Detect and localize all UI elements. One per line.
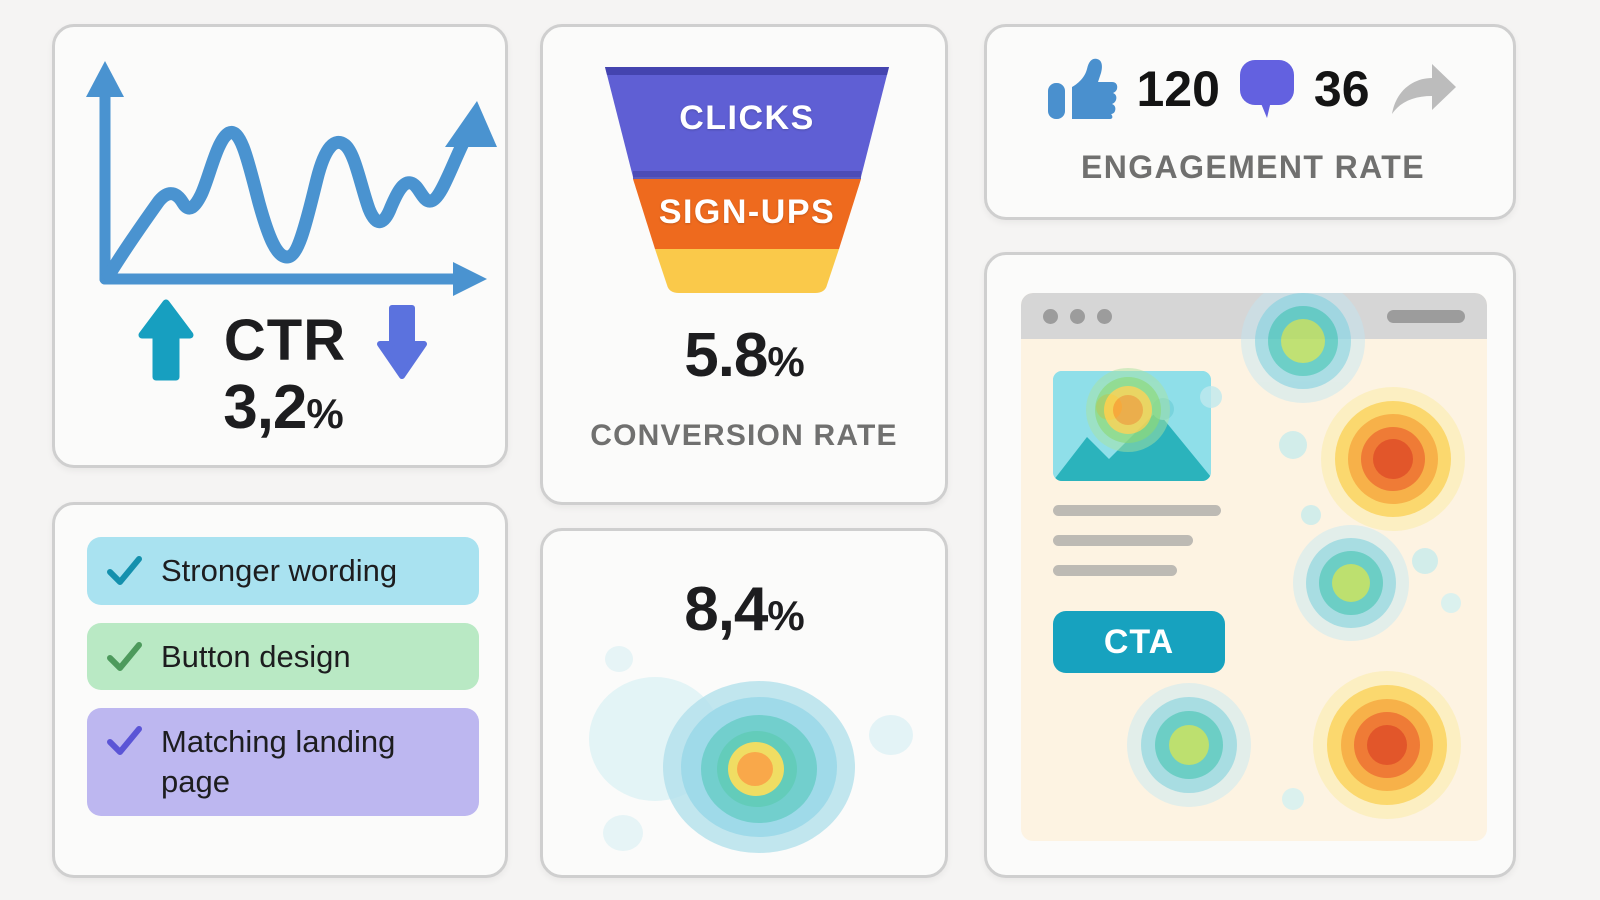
list-item[interactable]: Matching landing page: [87, 708, 479, 815]
ctr-percent-sign: %: [306, 390, 342, 437]
ctr-value-row: 3,2%: [55, 377, 508, 439]
heatmap-value: 8,4: [684, 575, 767, 644]
address-bar[interactable]: [1387, 310, 1465, 323]
arrow-up-icon: [138, 299, 194, 383]
text-line: [1053, 565, 1177, 576]
conversion-rate-caption: CONVERSION RATE: [543, 419, 945, 453]
engagement-rate-card: 120 36 ENGAGEMENT RATE: [984, 24, 1516, 220]
cta-button-label: CTA: [1104, 623, 1174, 662]
engagement-rate-caption: ENGAGEMENT RATE: [987, 149, 1516, 186]
ctr-label-row: CTR: [55, 299, 508, 383]
window-dot-close-icon[interactable]: [1043, 309, 1058, 324]
heatmap-value-row: 8,4%: [543, 579, 945, 641]
check-icon: [105, 722, 143, 760]
ctr-label: CTR: [224, 312, 346, 370]
engagement-metrics-row: 120 36: [987, 57, 1516, 121]
conversion-rate-percent-sign: %: [767, 338, 803, 385]
text-line: [1053, 535, 1193, 546]
funnel-label-signups: SIGN-UPS: [543, 193, 948, 232]
conversion-rate-value-row: 5.8%: [543, 325, 945, 387]
likes-count: 120: [1136, 64, 1219, 114]
thumbs-up-icon: [1046, 57, 1118, 121]
list-item[interactable]: Button design: [87, 623, 479, 691]
page-heatmap-card: CTA: [984, 252, 1516, 878]
heatmap-percent-sign: %: [767, 592, 803, 639]
text-line: [1053, 505, 1221, 516]
conversion-funnel-card: CLICKS SIGN-UPS 5.8% CONVERSION RATE: [540, 24, 948, 505]
dashboard-canvas: CTR 3,2% CLICKS SIGN-: [0, 0, 1600, 900]
ctr-metric-card: CTR 3,2%: [52, 24, 508, 468]
comment-bubble-icon: [1238, 58, 1296, 120]
image-placeholder: [1053, 371, 1211, 481]
optimizations-checklist-card: Stronger wording Button design Matching …: [52, 502, 508, 878]
list-item[interactable]: Stronger wording: [87, 537, 479, 605]
checklist-item-label: Stronger wording: [161, 551, 397, 591]
funnel-band-bottom: [655, 249, 839, 293]
heatmap-metric-card: 8,4%: [540, 528, 948, 878]
ctr-value: 3,2: [223, 373, 306, 442]
funnel-label-clicks: CLICKS: [543, 99, 948, 138]
conversion-rate-value: 5.8: [684, 321, 767, 390]
comments-count: 36: [1314, 64, 1370, 114]
funnel-graphic: CLICKS SIGN-UPS: [543, 59, 948, 299]
share-arrow-icon: [1388, 60, 1460, 118]
window-dot-maximize-icon[interactable]: [1097, 309, 1112, 324]
cta-button[interactable]: CTA: [1053, 611, 1225, 673]
checklist-item-label: Matching landing page: [161, 722, 461, 801]
browser-mockup: CTA: [1021, 293, 1487, 841]
arrow-down-icon: [376, 302, 428, 380]
check-icon: [105, 638, 143, 676]
check-icon: [105, 552, 143, 590]
checklist-item-label: Button design: [161, 637, 351, 677]
heatmap-blob-graphic: [543, 651, 948, 877]
checklist: Stronger wording Button design Matching …: [87, 537, 479, 834]
window-dot-minimize-icon[interactable]: [1070, 309, 1085, 324]
ctr-line-chart: [73, 43, 493, 293]
